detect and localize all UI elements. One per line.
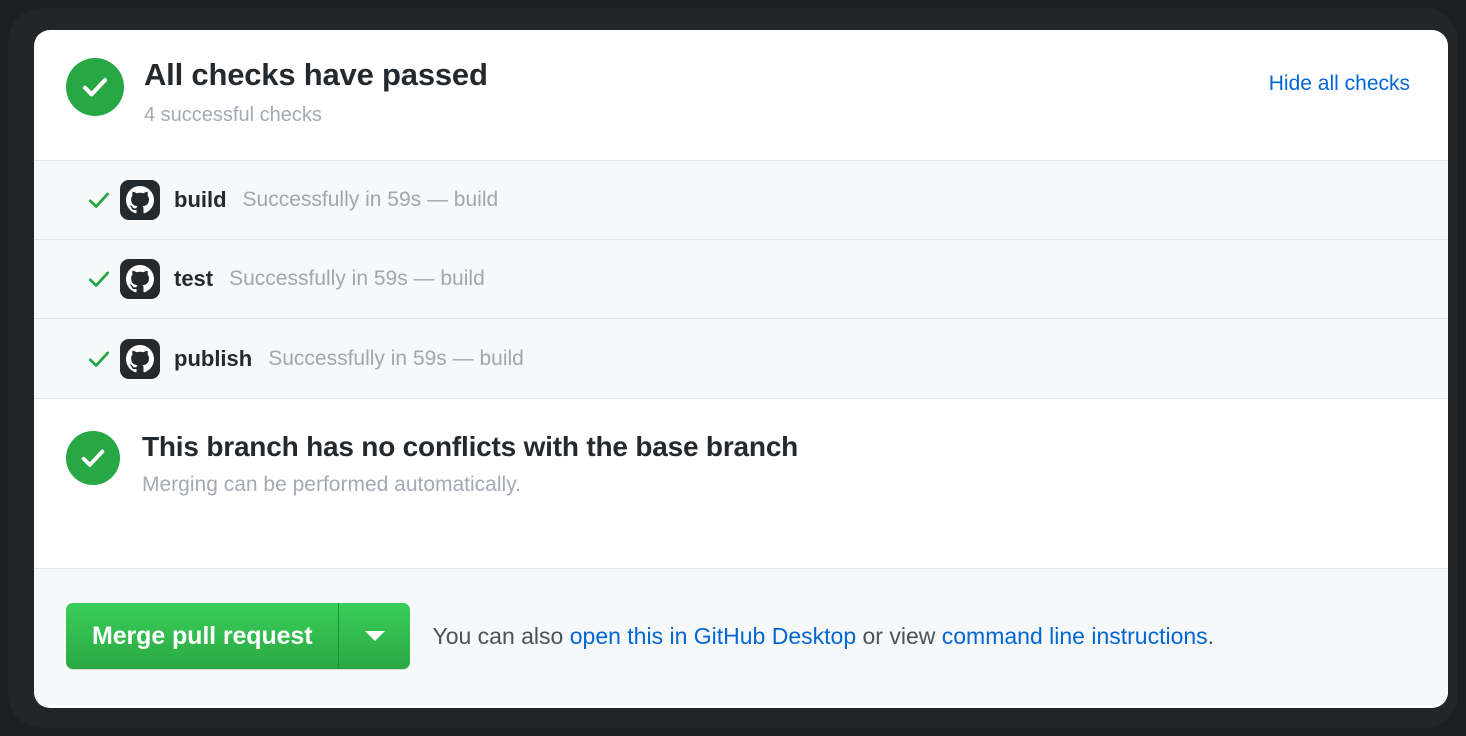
github-octocat-icon: [120, 339, 160, 379]
checks-summary: 4 successful checks: [144, 102, 488, 128]
hide-all-checks-link[interactable]: Hide all checks: [1269, 72, 1410, 96]
merge-footer: Merge pull request You can also open thi…: [34, 569, 1448, 705]
check-description: Successfully in 59s — build: [229, 267, 485, 291]
merge-button-group: Merge pull request: [66, 603, 410, 669]
checks-header: All checks have passed 4 successful chec…: [34, 30, 1448, 161]
check-circle-icon: [66, 431, 120, 485]
check-icon: [66, 266, 120, 292]
device-frame: All checks have passed 4 successful chec…: [8, 8, 1458, 728]
check-name: build: [174, 187, 227, 213]
conflict-title: This branch has no conflicts with the ba…: [142, 429, 798, 464]
page-title: All checks have passed: [144, 56, 488, 95]
check-icon: [66, 346, 120, 372]
footer-note: You can also open this in GitHub Desktop…: [432, 623, 1214, 650]
check-row-publish[interactable]: publish Successfully in 59s — build: [34, 319, 1448, 398]
check-row-build[interactable]: build Successfully in 59s — build: [34, 161, 1448, 240]
open-in-github-desktop-link[interactable]: open this in GitHub Desktop: [570, 623, 856, 649]
merge-dropdown-button[interactable]: [338, 603, 410, 669]
merge-status-card: All checks have passed 4 successful chec…: [34, 30, 1448, 708]
check-name: test: [174, 266, 213, 292]
chevron-down-icon: [365, 631, 385, 641]
conflict-subtitle: Merging can be performed automatically.: [142, 473, 798, 497]
checks-list: build Successfully in 59s — build test S…: [34, 161, 1448, 399]
command-line-instructions-link[interactable]: command line instructions: [942, 623, 1208, 649]
check-icon: [66, 187, 120, 213]
github-octocat-icon: [120, 259, 160, 299]
footer-note-suffix: .: [1208, 623, 1214, 649]
merge-pull-request-button[interactable]: Merge pull request: [66, 603, 338, 669]
footer-note-prefix: You can also: [432, 623, 569, 649]
check-description: Successfully in 59s — build: [243, 188, 499, 212]
branch-conflict-section: This branch has no conflicts with the ba…: [34, 399, 1448, 569]
check-description: Successfully in 59s — build: [268, 347, 524, 371]
footer-note-middle: or view: [856, 623, 942, 649]
check-row-test[interactable]: test Successfully in 59s — build: [34, 240, 1448, 319]
github-octocat-icon: [120, 180, 160, 220]
check-circle-icon: [66, 58, 124, 116]
check-name: publish: [174, 346, 252, 372]
